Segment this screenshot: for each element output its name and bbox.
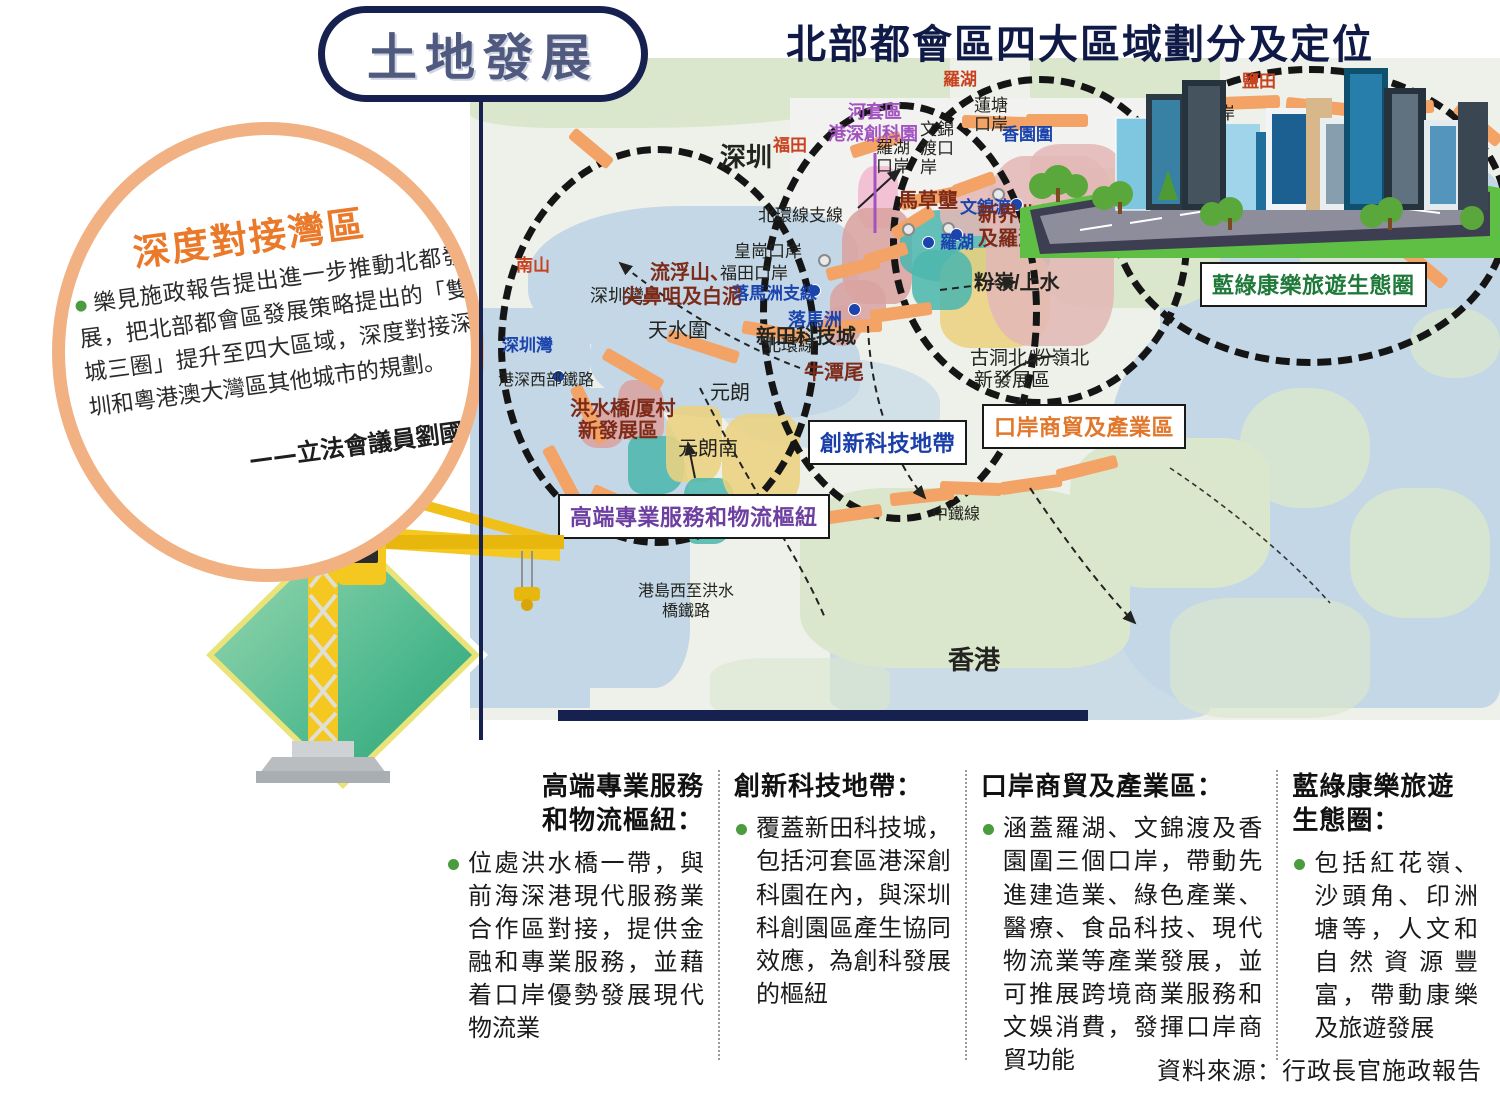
column-port-commerce: 口岸商貿及產業區： 涵蓋羅湖、文錦渡及香園圍三個口岸，帶動先進建造業、綠色產業、… [965,770,1276,1060]
bullet-icon [448,859,459,870]
column-title: 口岸商貿及產業區： [981,770,1262,804]
map-place-hung-shui-kiu-2: 新發展區 [578,420,658,442]
column-title: 高端專業服務 和物流樞紐： [446,770,704,839]
column-high-end-services: 高端專業服務 和物流樞紐： 位處洪水橋一帶，與前海深港現代服務業合作區對接，提供… [432,770,718,1060]
badge-connector-line [479,100,483,740]
bullet-icon [983,824,994,835]
column-innovation-tech: 創新科技地帶： 覆蓋新田科技城，包括河套區港深創科園在內，與深圳科創園區產生協同… [718,770,965,1060]
map-place-yuen-long-south: 元朗南 [678,438,738,460]
column-body-text: 包括紅花嶺、沙頭角、印洲塘等，人文和自然資源豐富，帶動康樂及旅遊發展 [1314,849,1478,1043]
column-title: 創新科技地帶： [734,770,951,804]
map-station-shenzhen-bay: 深圳灣 [502,336,553,355]
map-place-tin-shui-wai: 天水圍 [648,320,708,342]
map-station-lo-wu: 羅湖 [940,233,974,252]
map-place-kwu-tung-north-1: 古洞北/粉嶺北 [970,348,1089,369]
column-body: 位處洪水橋一帶，與前海深港現代服務業合作區對接，提供金融和專業服務，並藉着口岸優… [446,847,704,1046]
map-place-san-tin-tech-city: 新田科技城 [756,326,856,348]
column-body: 包括紅花嶺、沙頭角、印洲塘等，人文和自然資源豐富，帶動康樂及旅遊發展 [1292,847,1478,1046]
map-label-nanshan: 南山 [516,256,550,275]
checkpoint-dot-lo-wu [902,223,915,236]
map-label-hetao-2: 港深創科園 [828,124,918,144]
map-label-hetao-1: 河套區 [848,102,902,122]
section-badge-label: 土地發展 [367,18,599,90]
zone-box-blue-green-eco: 藍綠康樂旅遊生態圈 [1200,262,1427,307]
column-body-text: 涵蓋羅湖、文錦渡及香園圍三個口岸，帶動先進建造業、綠色產業、醫療、食品科技、現代… [1003,814,1262,1074]
zone-box-high-end-services: 高端專業服務和物流樞紐 [558,494,830,539]
station-dot-lo-wu [922,236,935,249]
map-checkpoint-futian: 福田口岸 [720,264,788,283]
map-label-futian: 福田 [773,136,807,155]
map-place-yuen-long: 元朗 [710,382,750,404]
column-title: 藍綠康樂旅遊 生態圈： [1292,770,1478,839]
bullet-icon [1294,859,1305,870]
map-rail-northern-link-spur: 北環線支線 [758,206,843,225]
bullet-icon [736,824,747,835]
quote-bubble: 深度對接灣區 樂見施政報告提出進一步推動北都發展，把北部都會區發展策略提出的「雙… [52,122,484,582]
map-rail-lok-ma-chau-spur: 落馬洲支線 [732,284,817,303]
column-body-text: 位處洪水橋一帶，與前海深港現代服務業合作區對接，提供金融和專業服務，並藉着口岸優… [468,849,704,1043]
map-checkpoint-liantang: 蓮塘口岸 [974,96,1014,134]
map-panel: 深圳 香港 南山 福田 羅湖 鹽田 深圳灣 大鵬灣 印洲塘 深圳灣 落馬洲 羅湖… [470,58,1500,720]
map-checkpoint-huanggang: 皇崗口岸 [734,242,802,261]
map-place-lau-fau-shan-2: 尖鼻咀及白泥 [622,286,742,308]
map-checkpoint-man-kam-to: 文錦渡口岸 [920,120,960,177]
zone-description-columns: 高端專業服務 和物流樞紐： 位處洪水橋一帶，與前海深港現代服務業合作區對接，提供… [432,770,1492,1060]
map-rail-hk-island-west: 港島西至洪水橋鐵路 [636,582,736,622]
quote-attribution: ——立法會議員劉國勳 [96,409,484,495]
column-body: 覆蓋新田科技城，包括河套區港深創科園在內，與深圳科創園區產生協同效應，為創科發展… [734,812,951,1011]
map-label-hongkong: 香港 [948,646,1000,675]
map-place-ma-tso-lung: 馬草壟 [898,190,958,212]
map-label-luohu-district: 羅湖 [943,70,977,89]
column-blue-green-eco: 藍綠康樂旅遊 生態圈： 包括紅花嶺、沙頭角、印洲塘等，人文和自然資源豐富，帶動康… [1276,770,1492,1060]
section-badge: 土地發展 [318,6,648,102]
map-place-ngau-tam-mei: 牛潭尾 [804,362,864,384]
map-label-shenzhen: 深圳 [720,143,772,172]
map-place-hung-shui-kiu-1: 洪水橋/厦村 [570,398,676,420]
zone-box-port-commerce: 口岸商貿及產業區 [982,404,1186,449]
quote-bullet-icon [75,300,87,312]
station-dot-lok-ma-chau [848,303,861,316]
column-body: 涵蓋羅湖、文錦渡及香園圍三個口岸，帶動先進建造業、綠色產業、醫療、食品科技、現代… [981,812,1262,1077]
map-place-fanling-sheung-shui: 粉嶺/上水 [974,272,1060,294]
city-skyline-illustration [1020,58,1500,258]
column-body-text: 覆蓋新田科技城，包括河套區港深創科園在內，與深圳科創園區產生協同效應，為創科發展… [756,814,951,1008]
header-divider [558,710,1088,721]
map-place-kwu-tung-north-2: 新發展區 [974,370,1050,391]
map-rail-mtr-line: 中鐵線 [932,506,980,524]
map-place-lau-fau-shan-1: 流浮山、 [650,262,730,284]
source-attribution: 資料來源：行政長官施政報告 [1157,1051,1482,1086]
zone-box-innovation-tech: 創新科技地帶 [808,420,967,465]
map-rail-hk-sz-western: 港深西部鐵路 [498,372,594,390]
checkpoint-dot-huanggang [818,254,831,267]
